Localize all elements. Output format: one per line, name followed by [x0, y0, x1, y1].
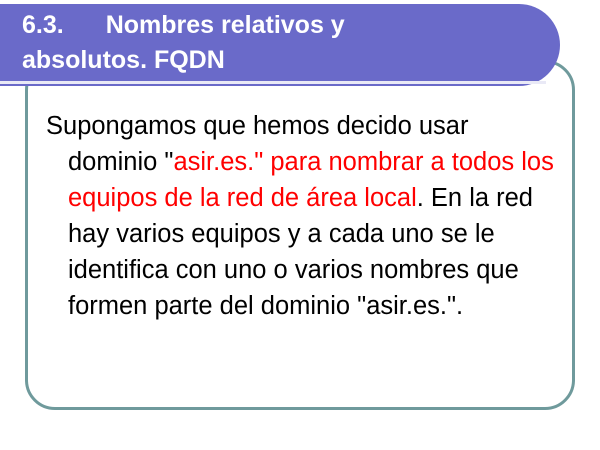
slide-canvas: 6.3.Nombres relativos yabsolutos. FQDN S… — [0, 0, 600, 450]
title-number: 6.3. — [22, 11, 64, 39]
slide-title: 6.3.Nombres relativos yabsolutos. FQDN — [22, 8, 552, 78]
slide-body-paragraph: Supongamos que hemos decido usar dominio… — [46, 108, 554, 324]
title-line2: absolutos. FQDN — [22, 46, 225, 74]
title-underline-rule — [0, 81, 546, 84]
title-line1: Nombres relativos y — [106, 11, 345, 39]
